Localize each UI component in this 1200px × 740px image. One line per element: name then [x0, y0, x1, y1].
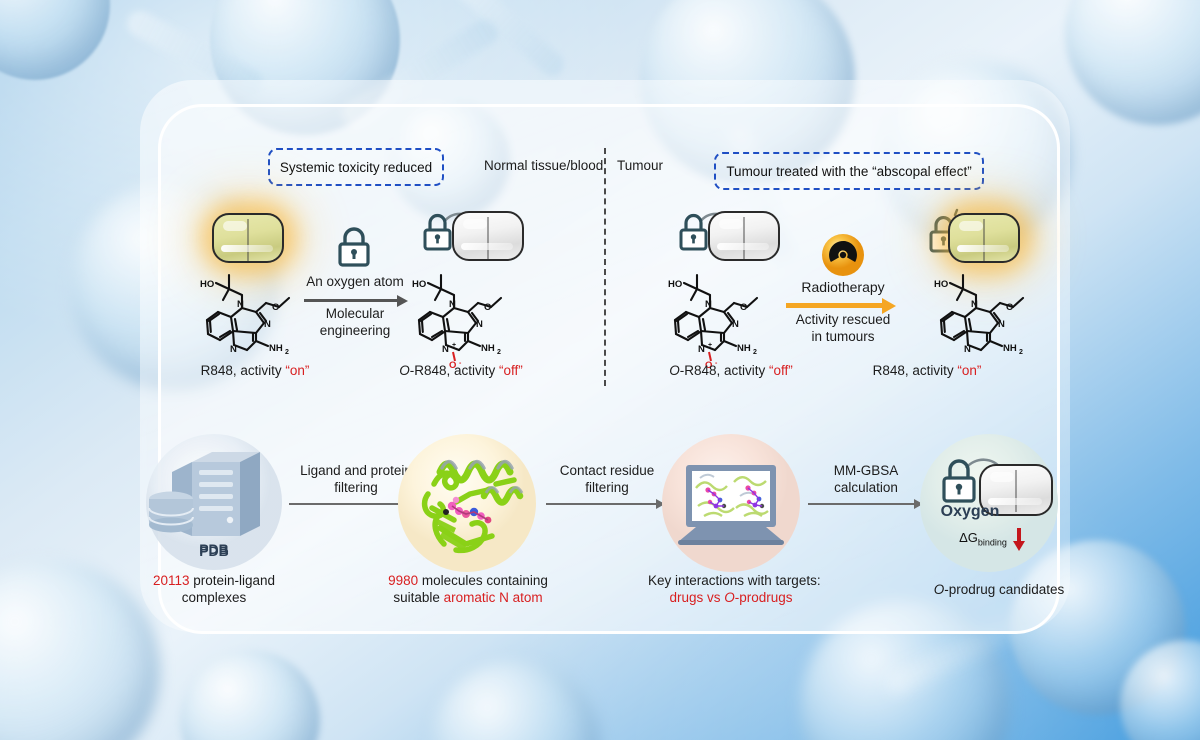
svg-text:2: 2: [753, 349, 757, 356]
arrow2-bottom-label-2: in tumours: [775, 329, 911, 346]
svg-text:N: N: [476, 319, 483, 330]
callout-abscopal-effect: Tumour treated with the “abscopal effect…: [714, 152, 984, 190]
caption-molecule-3: O-R848, activity “off”: [666, 363, 796, 380]
callout-abscopal-effect-label: Tumour treated with the “abscopal effect…: [726, 164, 971, 179]
laptop-caption-red-ital: O: [724, 590, 735, 605]
pill-active-left: [212, 213, 284, 263]
svg-text:NH: NH: [481, 343, 495, 354]
callout-systemic-toxicity: Systemic toxicity reduced: [268, 148, 444, 186]
pipeline-arrow-2-label-2: filtering: [542, 480, 672, 497]
lock-closed-icon: [335, 225, 373, 269]
caption-2-text: -R848, activity: [410, 363, 499, 378]
laptop-caption-line2: drugs vs O-prodrugs: [648, 590, 814, 607]
svg-text:N: N: [732, 319, 739, 330]
protein-caption-line2: suitable aromatic N atom: [380, 590, 556, 607]
svg-text:N: N: [971, 299, 978, 310]
svg-text:HO: HO: [934, 279, 948, 290]
caption-4-text: R848, activity: [873, 363, 958, 378]
pdb-caption-line2: complexes: [132, 590, 296, 607]
arrow2-bottom-label-1: Activity rescued: [775, 312, 911, 329]
svg-text:NH: NH: [737, 343, 751, 354]
pipeline-arrow-3-label-2: calculation: [806, 480, 926, 497]
svg-text:O: O: [1006, 302, 1013, 313]
zone-label-tumour: Tumour: [617, 158, 663, 175]
protein-caption-pre: suitable: [393, 590, 443, 605]
pipeline-arrow-3-label-1: MM-GBSA: [806, 463, 926, 480]
caption-3-prefix: O: [669, 363, 680, 378]
svg-text:N: N: [698, 344, 705, 355]
delta-g-symbol: ΔG: [959, 530, 978, 545]
delta-g-subscript: binding: [978, 538, 1007, 548]
svg-text:N: N: [237, 299, 244, 310]
caption-1-text: R848, activity: [201, 363, 286, 378]
svg-text:O: O: [740, 302, 747, 313]
down-arrow-icon: [1012, 528, 1026, 552]
zone-label-normal-tissue: Normal tissue/blood: [484, 158, 603, 175]
svg-text:HO: HO: [668, 279, 682, 290]
svg-text:NH: NH: [269, 343, 283, 354]
candidates-caption-rest: -prodrug candidates: [944, 582, 1064, 597]
protein-caption-line1: 9980 molecules containing: [380, 573, 556, 590]
svg-text:HO: HO: [200, 279, 214, 290]
laptop-caption-red-2: -prodrugs: [735, 590, 793, 605]
caption-2-state: “off”: [499, 363, 523, 378]
svg-text:N: N: [705, 299, 712, 310]
caption-molecule-4: R848, activity “on”: [862, 363, 992, 380]
svg-text:2: 2: [497, 349, 501, 356]
callout-systemic-toxicity-label: Systemic toxicity reduced: [280, 160, 432, 175]
arrow2-top-label: Radiotherapy: [778, 279, 908, 297]
caption-1-state: “on”: [285, 363, 309, 378]
caption-3-state: “off”: [769, 363, 793, 378]
protein-caption-highlight: aromatic N atom: [444, 590, 543, 605]
svg-text:HO: HO: [412, 279, 426, 290]
protein-caption-number: 9980: [388, 573, 418, 588]
svg-text:O: O: [484, 302, 491, 313]
pdb-label-overlay: PDB: [144, 543, 284, 559]
svg-text:2: 2: [285, 349, 289, 356]
svg-text:N: N: [230, 344, 237, 355]
caption-3-text: -R848, activity: [680, 363, 769, 378]
molecule-r848-right: HO N N O N NH 2: [920, 262, 1070, 362]
molecule-o-r848-1: HO N N O N + NH 2 O -: [398, 262, 548, 367]
caption-molecule-2: O-R848, activity “off”: [396, 363, 526, 380]
svg-text:+: +: [708, 342, 712, 349]
pdb-caption-line1: 20113 protein-ligand: [132, 573, 296, 590]
laptop-docking-icon: [660, 432, 802, 574]
protein-caption-rest: molecules containing: [418, 573, 548, 588]
svg-text:N: N: [442, 344, 449, 355]
svg-text:+: +: [452, 342, 456, 349]
svg-text:O: O: [272, 302, 279, 313]
oxygen-label: Oxygen: [930, 503, 1010, 521]
svg-text:N: N: [998, 319, 1005, 330]
candidates-caption: O-prodrug candidates: [910, 582, 1088, 599]
arrow1-bottom-label-2: engineering: [300, 323, 410, 340]
arrow1-bottom-label-1: Molecular: [300, 306, 410, 323]
pill-locked-2: [708, 211, 780, 261]
pill-locked-1: [452, 211, 524, 261]
caption-molecule-1: R848, activity “on”: [190, 363, 320, 380]
svg-text:N: N: [964, 344, 971, 355]
svg-text:NH: NH: [1003, 343, 1017, 354]
pdb-caption-number: 20113: [153, 573, 190, 588]
laptop-caption-red-1: drugs vs: [669, 590, 724, 605]
radiation-trefoil-icon: [820, 232, 866, 278]
laptop-caption-line1: Key interactions with targets:: [648, 573, 814, 590]
pill-active-right: [948, 213, 1020, 263]
svg-text:N: N: [449, 299, 456, 310]
zone-divider: [604, 148, 606, 386]
arrow1-top-label: An oxygen atom: [300, 274, 410, 291]
caption-4-state: “on”: [957, 363, 981, 378]
protein-ribbon-icon: [396, 432, 538, 574]
caption-2-prefix: O: [399, 363, 410, 378]
svg-text:N: N: [264, 319, 271, 330]
candidates-caption-prefix: O: [934, 582, 945, 597]
pdb-caption-rest: protein-ligand: [189, 573, 275, 588]
pipeline-arrow-2-label-1: Contact residue: [542, 463, 672, 480]
svg-text:2: 2: [1019, 349, 1023, 356]
